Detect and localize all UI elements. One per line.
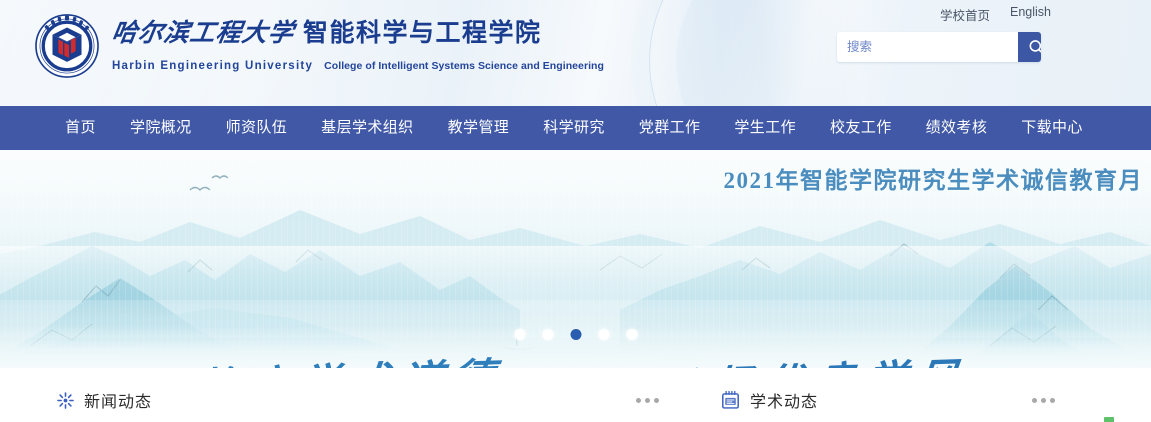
more-dot [654, 398, 659, 403]
news-column: 新闻动态 [0, 368, 700, 422]
nav-item-party-work[interactable]: 党群工作 [622, 106, 718, 150]
carousel-dot-4[interactable] [598, 329, 609, 340]
more-dot [1050, 398, 1055, 403]
news-more-button[interactable] [636, 398, 659, 403]
carousel-dot-5[interactable] [626, 329, 637, 340]
nav-item-research[interactable]: 科学研究 [526, 106, 622, 150]
carousel-pagination [514, 329, 637, 340]
search-input[interactable] [837, 32, 1018, 62]
nav-item-performance[interactable]: 绩效考核 [909, 106, 1005, 150]
more-dot [645, 398, 650, 403]
college-name-cn: 智能科学与工程学院 [303, 21, 542, 46]
news-section-title: 新闻动态 [84, 388, 152, 412]
academic-calendar-icon [720, 390, 741, 411]
university-crest-icon [34, 13, 100, 79]
search-icon [1027, 38, 1041, 57]
search-box[interactable] [837, 32, 1041, 62]
carousel-dot-2[interactable] [542, 329, 553, 340]
main-navigation: 首页 学院概况 师资队伍 基层学术组织 教学管理 科学研究 党群工作 学生工作 … [0, 106, 1151, 150]
site-header: 哈尔滨工程大学 智能科学与工程学院 Harbin Engineering Uni… [0, 0, 1151, 106]
link-english[interactable]: English [1010, 5, 1051, 24]
nav-item-faculty[interactable]: 师资队伍 [209, 106, 305, 150]
more-dot [636, 398, 641, 403]
content-sections: 新闻动态 [0, 368, 1151, 422]
banner-campaign-title: 2021年智能学院研究生学术诚信教育月 [724, 161, 1144, 195]
link-school-home[interactable]: 学校首页 [940, 5, 990, 24]
carousel-dot-3[interactable] [570, 329, 581, 340]
academic-column: 学术动态 [700, 368, 1151, 422]
nav-item-alumni[interactable]: 校友工作 [813, 106, 909, 150]
nav-item-teaching-admin[interactable]: 教学管理 [431, 106, 527, 150]
nav-item-home[interactable]: 首页 [51, 106, 113, 150]
decorative-green-chip [1104, 417, 1114, 422]
search-button[interactable] [1018, 32, 1041, 62]
hero-banner-carousel[interactable]: 2021年智能学院研究生学术诚信教育月 恪守学术道德 慎而思之 弘扬优良学风 求… [0, 150, 1151, 368]
banner-calligraphy-line-3: 弘扬优良学风 [656, 345, 970, 368]
site-wordmark: 哈尔滨工程大学 智能科学与工程学院 Harbin Engineering Uni… [112, 21, 604, 72]
more-dot [1032, 398, 1037, 403]
university-name-en: Harbin Engineering University [112, 60, 313, 72]
nav-item-student-affairs[interactable]: 学生工作 [717, 106, 813, 150]
nav-item-college-overview[interactable]: 学院概况 [113, 106, 209, 150]
university-college-homepage: 哈尔滨工程大学 智能科学与工程学院 Harbin Engineering Uni… [0, 0, 1151, 422]
banner-calligraphy-line-1: 恪守学术道德 [192, 345, 506, 368]
academic-more-button[interactable] [1032, 398, 1055, 403]
nav-item-downloads[interactable]: 下载中心 [1004, 106, 1100, 150]
academic-section-header: 学术动态 [720, 368, 1151, 412]
college-name-en: College of Intelligent Systems Science a… [324, 60, 604, 72]
more-dot [1041, 398, 1046, 403]
news-burst-icon [56, 391, 75, 410]
news-section-header: 新闻动态 [56, 368, 700, 412]
carousel-dot-1[interactable] [514, 329, 525, 340]
header-utility-links: 学校首页 English [940, 5, 1051, 24]
site-logo-block[interactable]: 哈尔滨工程大学 智能科学与工程学院 Harbin Engineering Uni… [34, 13, 604, 79]
nav-item-academic-org[interactable]: 基层学术组织 [304, 106, 430, 150]
university-name-cn: 哈尔滨工程大学 [110, 21, 296, 46]
academic-section-title: 学术动态 [750, 388, 818, 412]
